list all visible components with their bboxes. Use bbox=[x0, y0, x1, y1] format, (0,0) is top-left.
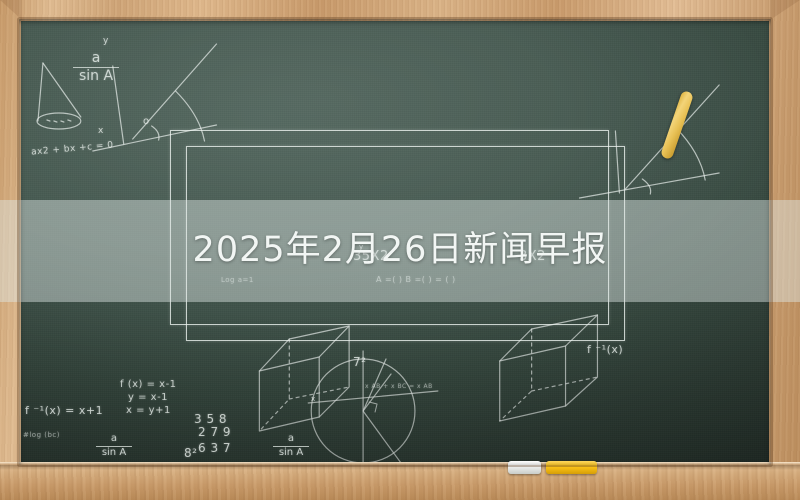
tray-shadow bbox=[0, 465, 800, 470]
chalkboard-banner: a sin A ax2 + bx +c = 0 y x o f (x) = x-… bbox=[0, 0, 800, 500]
board-inner-bevel bbox=[19, 19, 771, 465]
chalk-tray bbox=[0, 462, 800, 500]
